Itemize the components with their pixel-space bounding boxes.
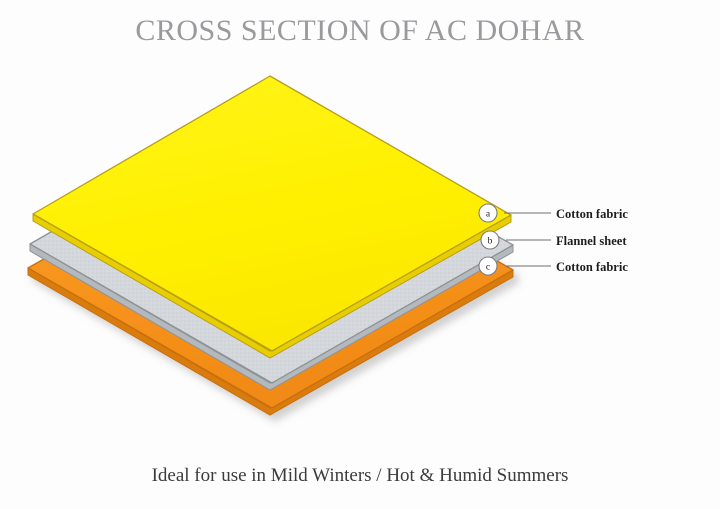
cross-section-diagram: a b c xyxy=(0,0,720,509)
callout-label-a: Cotton fabric xyxy=(556,207,628,222)
callout-label-c: Cotton fabric xyxy=(556,260,628,275)
badge-b-label: b xyxy=(488,237,493,247)
page-caption: Ideal for use in Mild Winters / Hot & Hu… xyxy=(0,465,720,487)
badge-a[interactable]: a xyxy=(479,204,497,222)
badge-b[interactable]: b xyxy=(481,231,499,249)
callout-label-b: Flannel sheet xyxy=(556,234,626,249)
badge-c[interactable]: c xyxy=(479,257,497,275)
badge-c-label: c xyxy=(486,263,490,273)
